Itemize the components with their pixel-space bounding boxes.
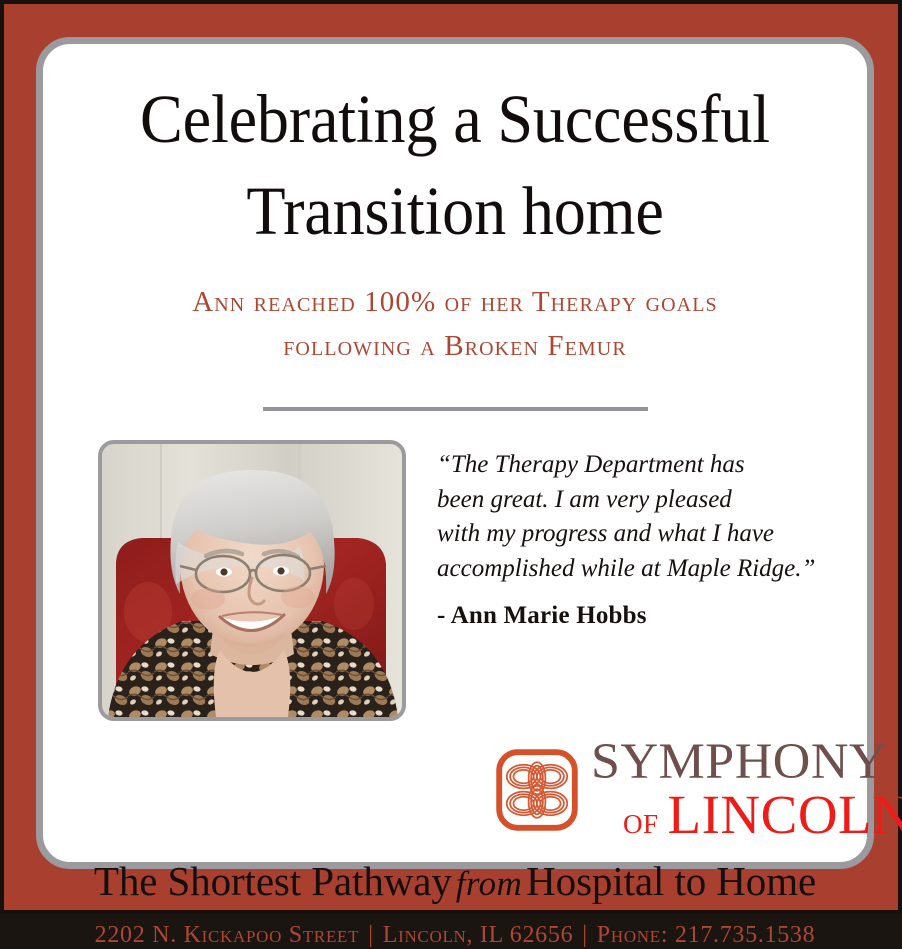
address-separator-2: | [573,922,597,948]
logo-wordmark: SYMPHONY OFLINCOLN [591,739,902,841]
tagline-script-word: from [452,864,526,903]
address-separator-1: | [359,922,383,948]
page-title: Celebrating a Successful Transition home [103,44,806,258]
logo-word-of: OF [623,809,659,839]
logo-word-symphony: SYMPHONY [591,739,902,787]
address-city-state-zip: Lincoln, IL 62656 [383,922,574,948]
tagline-part2: Hospital to Home [526,858,816,904]
testimonial-card: Celebrating a Successful Transition home… [36,37,874,869]
address-line: 2202 N. Kickapoo Street|Lincoln, IL 6265… [77,922,833,949]
tagline: The Shortest PathwayfromHospital to Home [77,857,833,905]
resident-photo-image [102,444,402,717]
symphony-of-lincoln-logo: SYMPHONY OFLINCOLN [495,739,833,841]
testimonial-block: “The Therapy Department has been great. … [406,440,833,630]
logo-word-line2: OFLINCOLN [591,789,902,841]
resident-photo [98,440,406,721]
address-street: 2202 N. Kickapoo Street [95,922,360,948]
poster: Celebrating a Successful Transition home… [0,0,902,914]
address-phone: Phone: 217.735.1538 [597,922,816,948]
divider [263,407,648,411]
logo-word-lincoln: LINCOLN [668,784,902,845]
symphony-interlocking-rings-icon [495,748,579,832]
testimonial-quote: “The Therapy Department has been great. … [437,448,833,586]
photo-and-quote-row: “The Therapy Department has been great. … [77,440,833,721]
testimonial-attribution: - Ann Marie Hobbs [437,602,833,630]
tagline-part1: The Shortest Pathway [94,858,452,904]
card-content: Celebrating a Successful Transition home… [43,44,867,862]
subtitle: Ann reached 100% of her Therapy goals fo… [77,280,833,370]
